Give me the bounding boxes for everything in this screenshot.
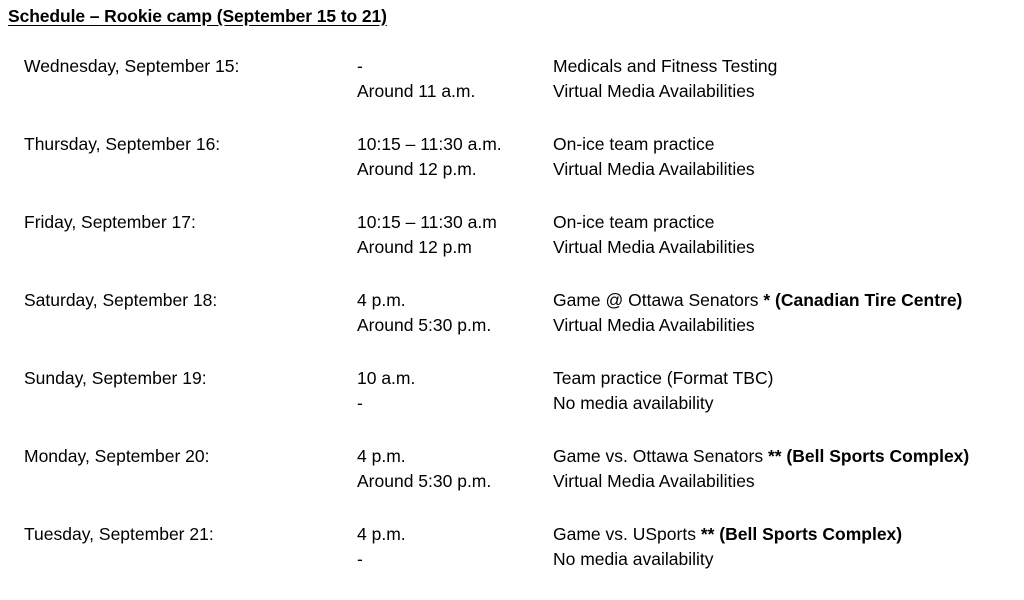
description-line-1: Team practice (Format TBC) (553, 366, 773, 391)
time-line-2: Around 11 a.m. (357, 79, 475, 104)
description-text: Game vs. Ottawa Senators (553, 446, 768, 466)
schedule-row-day: Monday, September 20: (24, 444, 209, 469)
description-line-2: Virtual Media Availabilities (553, 157, 755, 182)
time-line-2: Around 12 p.m. (357, 157, 502, 182)
description-line-2: Virtual Media Availabilities (553, 313, 962, 338)
description-text: Game vs. USports (553, 524, 701, 544)
page-title: Schedule – Rookie camp (September 15 to … (8, 5, 387, 27)
description-emphasis: * (Canadian Tire Centre) (763, 290, 962, 310)
schedule-row-descriptions: On-ice team practice Virtual Media Avail… (553, 210, 755, 260)
description-line-1: Game vs. USports ** (Bell Sports Complex… (553, 522, 902, 547)
time-line-2: Around 5:30 p.m. (357, 469, 491, 494)
time-line-2: - (357, 391, 415, 416)
time-line-2: Around 5:30 p.m. (357, 313, 491, 338)
time-line-1: 10:15 – 11:30 a.m (357, 210, 497, 235)
schedule-row-times: - Around 11 a.m. (357, 54, 475, 104)
schedule-table: Wednesday, September 15: - Around 11 a.m… (0, 54, 1024, 600)
schedule-row-descriptions: On-ice team practice Virtual Media Avail… (553, 132, 755, 182)
description-text: Virtual Media Availabilities (553, 471, 755, 491)
description-line-1: Game vs. Ottawa Senators ** (Bell Sports… (553, 444, 969, 469)
description-text: On-ice team practice (553, 134, 714, 154)
description-line-2: Virtual Media Availabilities (553, 235, 755, 260)
description-line-1: On-ice team practice (553, 132, 755, 157)
time-line-1: - (357, 54, 475, 79)
time-line-1: 10 a.m. (357, 366, 415, 391)
schedule-row-times: 4 p.m. - (357, 522, 406, 572)
schedule-row-descriptions: Game vs. USports ** (Bell Sports Complex… (553, 522, 902, 572)
schedule-row-descriptions: Medicals and Fitness Testing Virtual Med… (553, 54, 777, 104)
schedule-row-descriptions: Game vs. Ottawa Senators ** (Bell Sports… (553, 444, 969, 494)
description-text: Virtual Media Availabilities (553, 159, 755, 179)
description-emphasis: ** (Bell Sports Complex) (768, 446, 969, 466)
schedule-row-times: 4 p.m. Around 5:30 p.m. (357, 444, 491, 494)
description-text: Virtual Media Availabilities (553, 81, 755, 101)
schedule-row: Saturday, September 18: 4 p.m. Around 5:… (0, 288, 1024, 366)
description-text: Virtual Media Availabilities (553, 315, 755, 335)
description-line-2: Virtual Media Availabilities (553, 469, 969, 494)
schedule-row: Sunday, September 19: 10 a.m. - Team pra… (0, 366, 1024, 444)
schedule-row: Friday, September 17: 10:15 – 11:30 a.m … (0, 210, 1024, 288)
schedule-row-times: 4 p.m. Around 5:30 p.m. (357, 288, 491, 338)
time-line-1: 4 p.m. (357, 522, 406, 547)
description-text: On-ice team practice (553, 212, 714, 232)
description-text: No media availability (553, 393, 714, 413)
time-line-1: 4 p.m. (357, 444, 491, 469)
description-line-2: No media availability (553, 547, 902, 572)
description-line-1: On-ice team practice (553, 210, 755, 235)
time-line-2: Around 12 p.m (357, 235, 497, 260)
description-emphasis: ** (Bell Sports Complex) (701, 524, 902, 544)
description-line-2: Virtual Media Availabilities (553, 79, 777, 104)
schedule-row: Tuesday, September 21: 4 p.m. - Game vs.… (0, 522, 1024, 600)
time-line-1: 10:15 – 11:30 a.m. (357, 132, 502, 157)
description-text: No media availability (553, 549, 714, 569)
description-text: Medicals and Fitness Testing (553, 56, 777, 76)
schedule-row-day: Tuesday, September 21: (24, 522, 214, 547)
document-page: Schedule – Rookie camp (September 15 to … (0, 0, 1024, 579)
schedule-row-day: Friday, September 17: (24, 210, 196, 235)
description-text: Game @ Ottawa Senators (553, 290, 763, 310)
schedule-row-descriptions: Game @ Ottawa Senators * (Canadian Tire … (553, 288, 962, 338)
description-line-1: Medicals and Fitness Testing (553, 54, 777, 79)
time-line-1: 4 p.m. (357, 288, 491, 313)
schedule-row-times: 10:15 – 11:30 a.m Around 12 p.m (357, 210, 497, 260)
schedule-row-times: 10:15 – 11:30 a.m. Around 12 p.m. (357, 132, 502, 182)
description-text: Team practice (Format TBC) (553, 368, 773, 388)
schedule-row-day: Wednesday, September 15: (24, 54, 239, 79)
description-line-2: No media availability (553, 391, 773, 416)
time-line-2: - (357, 547, 406, 572)
schedule-row-times: 10 a.m. - (357, 366, 415, 416)
description-line-1: Game @ Ottawa Senators * (Canadian Tire … (553, 288, 962, 313)
schedule-row-day: Sunday, September 19: (24, 366, 207, 391)
schedule-row-day: Thursday, September 16: (24, 132, 220, 157)
description-text: Virtual Media Availabilities (553, 237, 755, 257)
schedule-row-descriptions: Team practice (Format TBC) No media avai… (553, 366, 773, 416)
schedule-row: Wednesday, September 15: - Around 11 a.m… (0, 54, 1024, 132)
schedule-row: Monday, September 20: 4 p.m. Around 5:30… (0, 444, 1024, 522)
schedule-row-day: Saturday, September 18: (24, 288, 217, 313)
schedule-row: Thursday, September 16: 10:15 – 11:30 a.… (0, 132, 1024, 210)
